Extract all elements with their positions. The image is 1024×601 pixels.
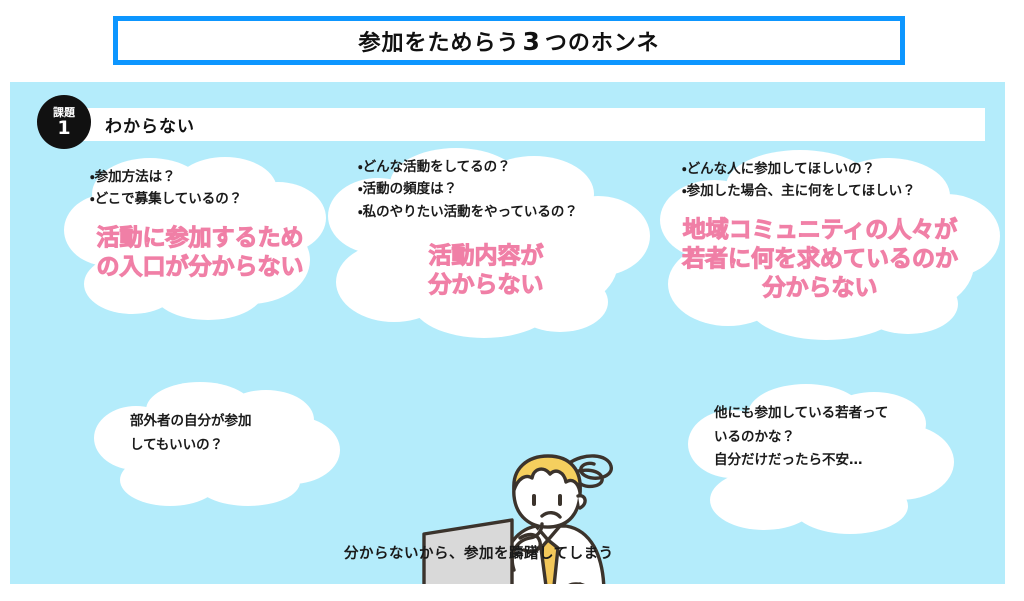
cloud-1-bullet-1: ・どこで募集しているの？ (90, 188, 242, 210)
page-title: 参加をためらう3つのホンネ (359, 25, 660, 57)
cloud-3-bullet-1: ・参加した場合、主に何をしてほしい？ (682, 180, 916, 202)
cloud-activity-content: ・どんな活動をしてるの？ ・活動の頻度は？ ・私のやりたい活動をやっているの？ … (316, 144, 656, 344)
cloud-2-bullets: ・どんな活動をしてるの？ ・活動の頻度は？ ・私のやりたい活動をやっているの？ (358, 156, 578, 223)
cloud-3-pink-text: 地域コミュニティの人々が 若者に何を求めているのか 分からない (650, 216, 990, 302)
cloud-4-line-0: 部外者の自分が参加 (130, 410, 252, 434)
page-title-box: 参加をためらう3つのホンネ (113, 16, 905, 65)
badge-number: 1 (57, 119, 70, 138)
cloud-5-line-2: 自分だけだったら不安… (714, 449, 888, 473)
page-title-number: 3 (520, 27, 545, 56)
cloud-outsider-doubt: 部外者の自分が参加 してもいいの？ (88, 378, 348, 508)
cloud-3-bullets: ・どんな人に参加してほしいの？ ・参加した場合、主に何をしてほしい？ (682, 158, 916, 203)
cloud-4-text: 部外者の自分が参加 してもいいの？ (130, 410, 252, 457)
cloud-5-text: 他にも参加している若者って いるのかな？ 自分だけだったら不安… (714, 402, 888, 473)
cloud-3-pink-line-1: 若者に何を求めているのか (650, 245, 990, 274)
badge-label: 課題 (53, 107, 75, 118)
cloud-5-line-0: 他にも参加している若者って (714, 402, 888, 426)
page-title-prefix: 参加をためらう (359, 31, 520, 56)
cloud-4-line-1: してもいいの？ (130, 434, 252, 458)
content-panel: わからない 課題 1 ・参加方法は？ ・どこで募集している (10, 82, 1005, 584)
badge-circle: 課題 1 (37, 95, 91, 149)
cloud-2-pink-text: 活動内容が 分からない (336, 242, 636, 300)
cloud-2-bullet-2: ・私のやりたい活動をやっているの？ (358, 201, 578, 223)
section-header-label: わからない (105, 112, 195, 137)
section-header-bar: わからない (75, 108, 985, 141)
cloud-other-youth: 他にも参加している若者って いるのかな？ 自分だけだったら不安… (678, 380, 968, 540)
cloud-5-line-1: いるのかな？ (714, 426, 888, 450)
cloud-participation-method: ・参加方法は？ ・どこで募集しているの？ 活動に参加するため の入口が分からない (60, 152, 340, 322)
illustration-caption: 分からないから、参加を躊躇してしまう (344, 542, 614, 563)
page-title-suffix: つのホンネ (545, 31, 660, 56)
cloud-3-pink-line-0: 地域コミュニティの人々が (650, 216, 990, 245)
cloud-2-pink-line-1: 分からない (336, 271, 636, 300)
cloud-2-bullet-0: ・どんな活動をしてるの？ (358, 156, 578, 178)
cloud-1-bullets: ・参加方法は？ ・どこで募集しているの？ (90, 166, 242, 211)
cloud-3-bullet-0: ・どんな人に参加してほしいの？ (682, 158, 916, 180)
cloud-community-needs: ・どんな人に参加してほしいの？ ・参加した場合、主に何をしてほしい？ 地域コミュ… (640, 144, 1000, 344)
cloud-2-bullet-1: ・活動の頻度は？ (358, 178, 578, 200)
cloud-1-bullet-0: ・参加方法は？ (90, 166, 242, 188)
section-badge: 課題 1 (37, 95, 95, 153)
cloud-3-pink-line-2: 分からない (650, 274, 990, 303)
cloud-2-pink-line-0: 活動内容が (336, 242, 636, 271)
